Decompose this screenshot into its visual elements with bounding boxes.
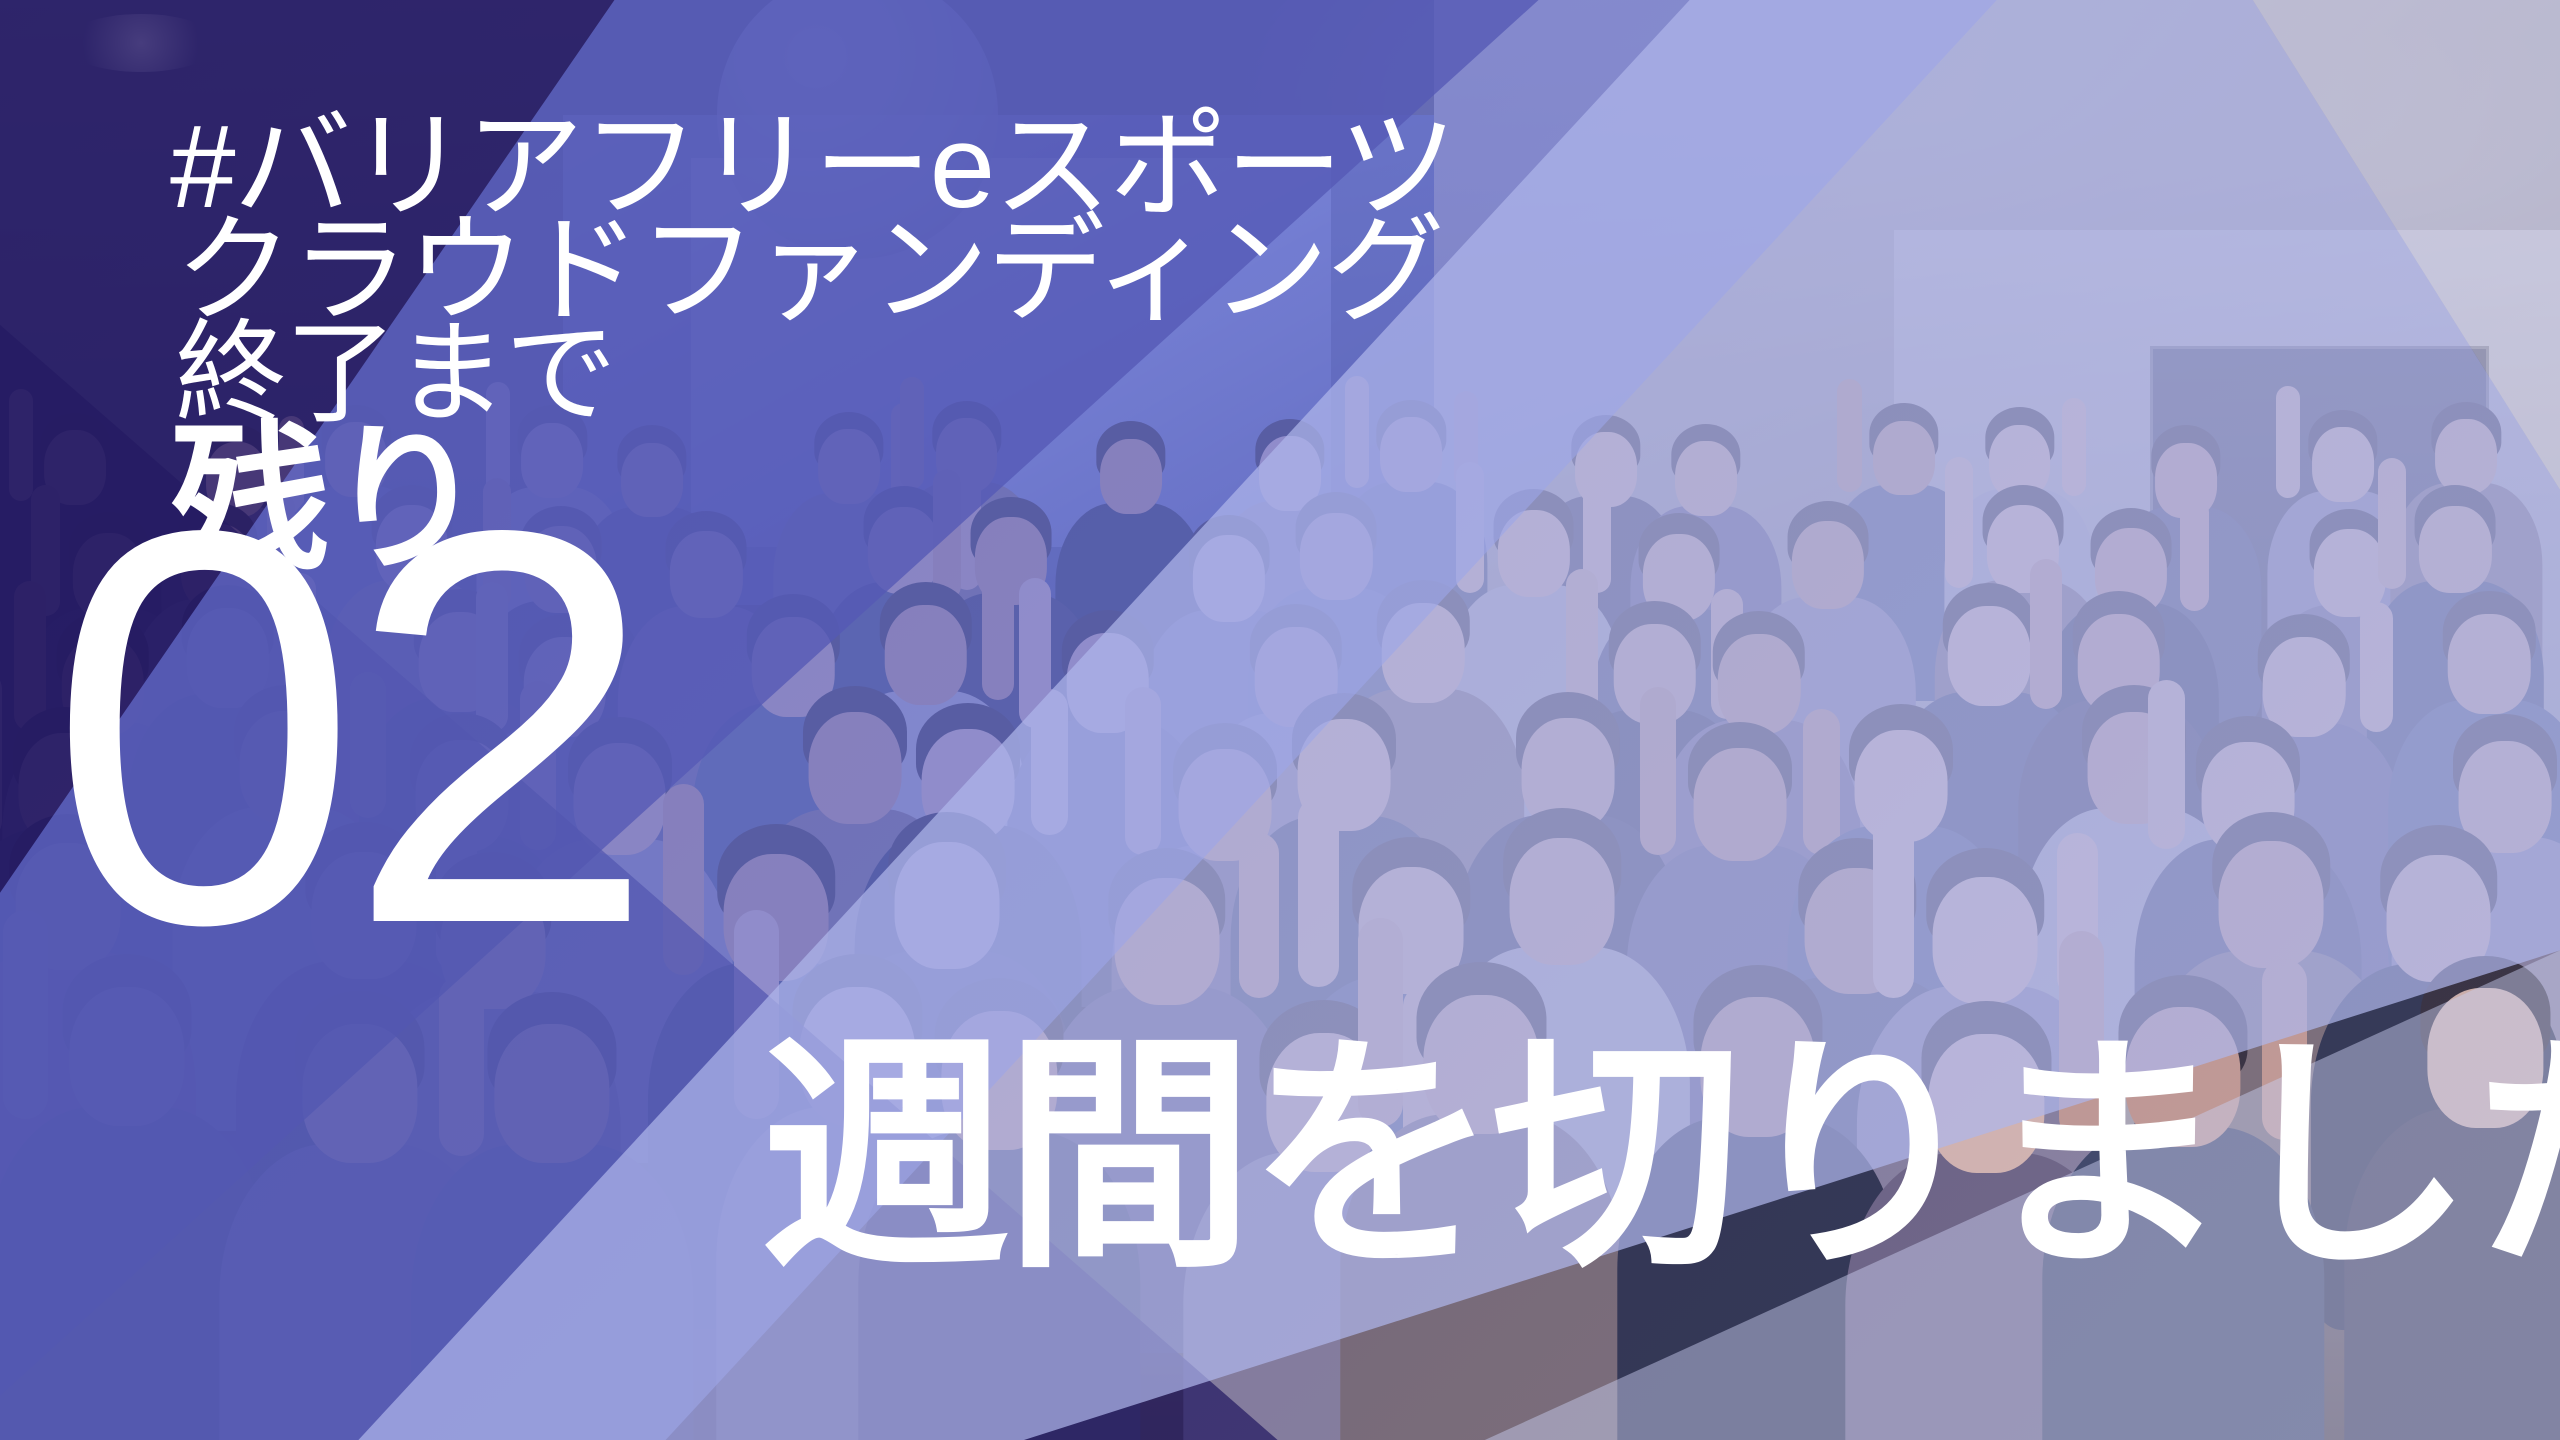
poster-copy: #バリアフリーeスポーツ クラウドファンディング 終了まで 残り 02 週間を切…	[0, 0, 2560, 1440]
unit-line: 週間を切りました	[760, 1032, 2560, 1282]
poster-canvas: #バリアフリーeスポーツ クラウドファンディング 終了まで 残り 02 週間を切…	[0, 0, 2560, 1440]
countdown-number: 02	[48, 498, 643, 957]
